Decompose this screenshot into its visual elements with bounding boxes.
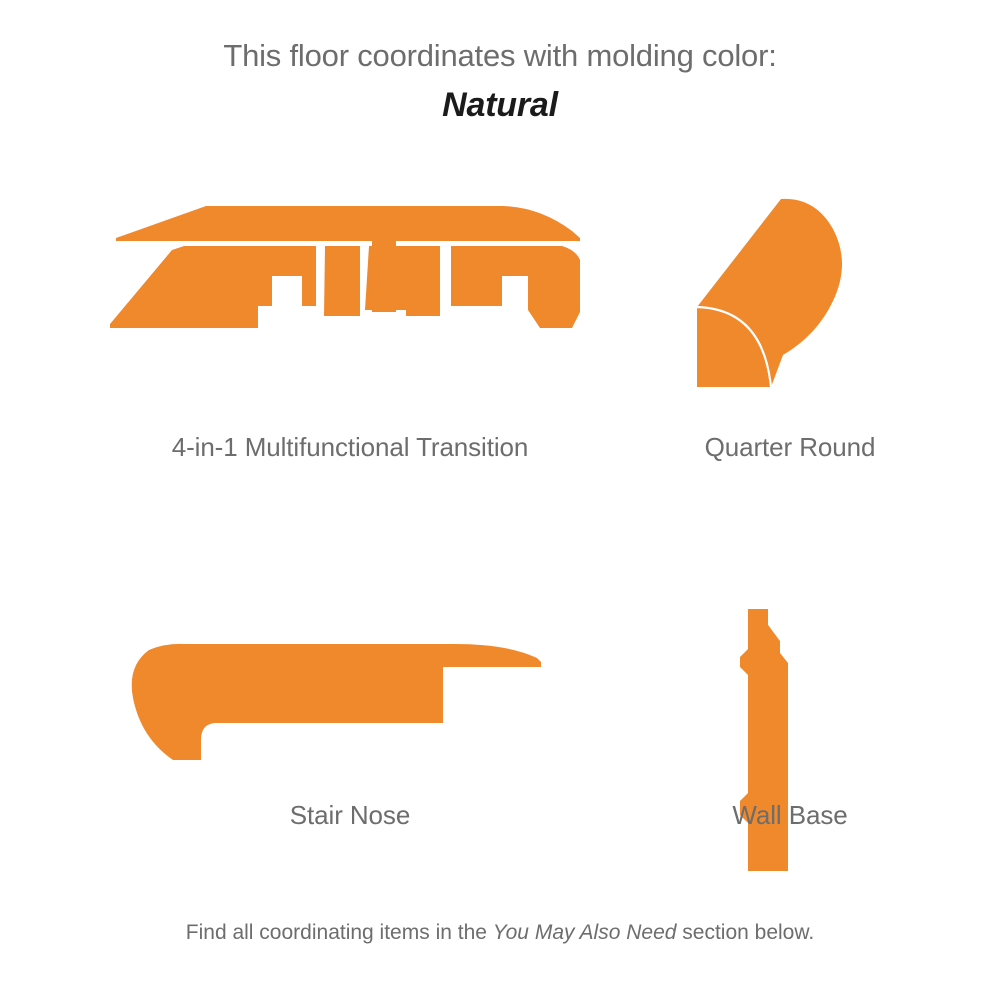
product-cell-stair-nose[interactable]: Stair Nose bbox=[40, 480, 660, 850]
product-label-wall-base: Wall Base bbox=[620, 798, 960, 832]
footer-emphasis: You May Also Need bbox=[493, 921, 677, 944]
product-cell-quarter-round[interactable]: Quarter Round bbox=[620, 180, 960, 480]
molding-product-grid: 4-in-1 Multifunctional Transition Quarte… bbox=[0, 180, 1000, 880]
product-label-quarter-round: Quarter Round bbox=[620, 430, 960, 464]
molding-coordination-panel: This floor coordinates with molding colo… bbox=[0, 0, 1000, 1000]
page-title: This floor coordinates with molding colo… bbox=[0, 36, 1000, 76]
product-cell-transition[interactable]: 4-in-1 Multifunctional Transition bbox=[40, 180, 660, 480]
molding-profile-quarter-round-icon bbox=[655, 185, 855, 405]
molding-color-name: Natural bbox=[0, 82, 1000, 128]
product-label-stair-nose: Stair Nose bbox=[40, 798, 660, 832]
footer-prefix: Find all coordinating items in the bbox=[186, 921, 493, 944]
molding-profile-transition-icon bbox=[110, 200, 590, 345]
molding-profile-stair-nose-icon bbox=[125, 630, 545, 765]
product-label-transition: 4-in-1 Multifunctional Transition bbox=[40, 430, 660, 464]
molding-profile-wall-base-icon bbox=[720, 595, 840, 885]
page-header: This floor coordinates with molding colo… bbox=[0, 36, 1000, 128]
footer-note: Find all coordinating items in the You M… bbox=[0, 918, 1000, 948]
product-cell-wall-base[interactable]: Wall Base bbox=[620, 480, 960, 850]
footer-suffix: section below. bbox=[676, 921, 814, 944]
